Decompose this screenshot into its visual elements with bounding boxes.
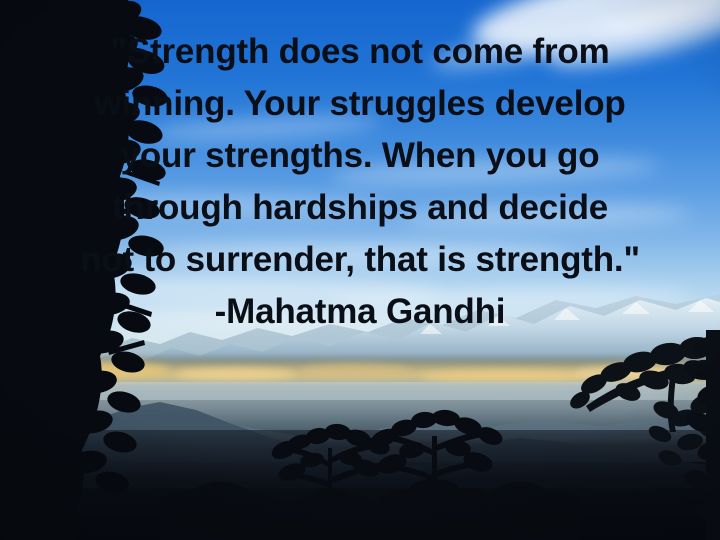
quote-line: not to surrender, that is strength." [0, 234, 720, 286]
quote-line: "Strength does not come from [0, 26, 720, 78]
golden-cloud-puff [175, 368, 295, 381]
dark-foreground-slope [0, 430, 720, 540]
quote-line: through hardships and decide [0, 182, 720, 234]
quote-poster-image: "Strength does not come from winning. Yo… [0, 0, 720, 540]
quote-line: winning. Your struggles develop [0, 78, 720, 130]
quote-attribution: -Mahatma Gandhi [0, 286, 720, 338]
quote-line: your strengths. When you go [0, 130, 720, 182]
quote-text-block: "Strength does not come from winning. Yo… [0, 26, 720, 338]
golden-cloud-puff [575, 366, 710, 381]
golden-cloud-puff [20, 362, 170, 378]
golden-cloud-puff [300, 364, 410, 378]
